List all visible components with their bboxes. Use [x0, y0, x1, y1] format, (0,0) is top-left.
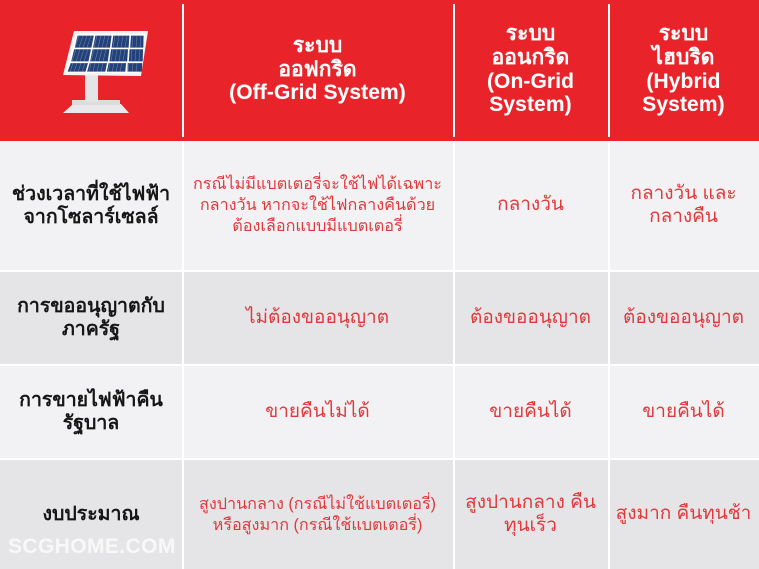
header-ongrid-en: (On-Grid System) — [457, 70, 604, 118]
header-icon-cell — [0, 0, 182, 141]
cell-offgrid-text: กรณีไม่มีแบตเตอรี่จะใช้ไฟได้เฉพาะกลางวัน… — [189, 174, 446, 236]
row-label: การขายไฟฟ้าคืนรัฐบาล — [0, 366, 182, 458]
header-ongrid: ระบบ ออนกริด (On-Grid System) — [453, 0, 608, 141]
cell-offgrid-text: สูงปานกลาง (กรณีไม่ใช้แบตเตอรี่) หรือสูง… — [189, 494, 446, 535]
header-offgrid-en: (Off-Grid System) — [229, 81, 406, 105]
row-label: การขออนุญาตกับภาครัฐ — [0, 272, 182, 364]
header-hybrid-th1: ระบบ — [659, 22, 709, 45]
cell-offgrid: สูงปานกลาง (กรณีไม่ใช้แบตเตอรี่) หรือสูง… — [182, 460, 453, 569]
row-label-text: การขออนุญาตกับภาครัฐ — [7, 295, 175, 341]
table-header-row: ระบบ ออฟกริด (Off-Grid System) ระบบ ออนก… — [0, 0, 759, 141]
row-label-text: ช่วงเวลาที่ใช้ไฟฟ้าจากโซลาร์เซลล์ — [7, 183, 175, 229]
cell-offgrid: ไม่ต้องขออนุญาต — [182, 272, 453, 364]
cell-hybrid: สูงมาก คืนทุนช้า — [608, 460, 759, 569]
table-row: การขออนุญาตกับภาครัฐ ไม่ต้องขออนุญาต ต้อ… — [0, 272, 759, 366]
row-label: ช่วงเวลาที่ใช้ไฟฟ้าจากโซลาร์เซลล์ — [0, 141, 182, 270]
table-row: งบประมาณ สูงปานกลาง (กรณีไม่ใช้แบตเตอรี่… — [0, 460, 759, 569]
cell-hybrid-text: สูงมาก คืนทุนช้า — [616, 503, 752, 526]
cell-ongrid-text: ขายคืนได้ — [489, 401, 571, 424]
header-ongrid-th1: ระบบ — [506, 22, 556, 45]
cell-offgrid-text: ไม่ต้องขออนุญาต — [246, 307, 389, 330]
cell-hybrid-text: กลางวัน และ กลางคืน — [615, 183, 752, 229]
cell-hybrid: กลางวัน และ กลางคืน — [608, 141, 759, 270]
header-offgrid: ระบบ ออฟกริด (Off-Grid System) — [182, 0, 453, 141]
cell-ongrid-text: กลางวัน — [497, 194, 564, 217]
cell-offgrid-text: ขายคืนไม่ได้ — [265, 401, 369, 424]
cell-ongrid-text: ต้องขออนุญาต — [470, 307, 591, 330]
cell-hybrid-text: ต้องขออนุญาต — [623, 307, 744, 330]
header-hybrid-en: (Hybrid System) — [612, 70, 755, 118]
cell-hybrid: ขายคืนได้ — [608, 366, 759, 458]
table-row: ช่วงเวลาที่ใช้ไฟฟ้าจากโซลาร์เซลล์ กรณีไม… — [0, 141, 759, 272]
row-label-text: งบประมาณ — [42, 503, 139, 526]
cell-ongrid: สูงปานกลาง คืนทุนเร็ว — [453, 460, 608, 569]
table-row: การขายไฟฟ้าคืนรัฐบาล ขายคืนไม่ได้ ขายคืน… — [0, 366, 759, 460]
header-ongrid-th2: ออนกริด — [492, 46, 570, 69]
cell-ongrid: ขายคืนได้ — [453, 366, 608, 458]
cell-ongrid: กลางวัน — [453, 141, 608, 270]
cell-ongrid-text: สูงปานกลาง คืนทุนเร็ว — [460, 492, 601, 538]
header-hybrid-th2: ไฮบริด — [652, 46, 714, 69]
header-offgrid-th2: ออฟกริด — [278, 58, 356, 81]
cell-ongrid: ต้องขออนุญาต — [453, 272, 608, 364]
comparison-table: ระบบ ออฟกริด (Off-Grid System) ระบบ ออนก… — [0, 0, 759, 569]
header-hybrid: ระบบ ไฮบริด (Hybrid System) — [608, 0, 759, 141]
cell-offgrid: ขายคืนไม่ได้ — [182, 366, 453, 458]
row-label: งบประมาณ — [0, 460, 182, 569]
row-label-text: การขายไฟฟ้าคืนรัฐบาล — [7, 389, 175, 435]
cell-hybrid: ต้องขออนุญาต — [608, 272, 759, 364]
cell-hybrid-text: ขายคืนได้ — [642, 401, 724, 424]
header-offgrid-th1: ระบบ — [293, 34, 343, 57]
solar-panel-icon — [29, 18, 153, 122]
cell-offgrid: กรณีไม่มีแบตเตอรี่จะใช้ไฟได้เฉพาะกลางวัน… — [182, 141, 453, 270]
